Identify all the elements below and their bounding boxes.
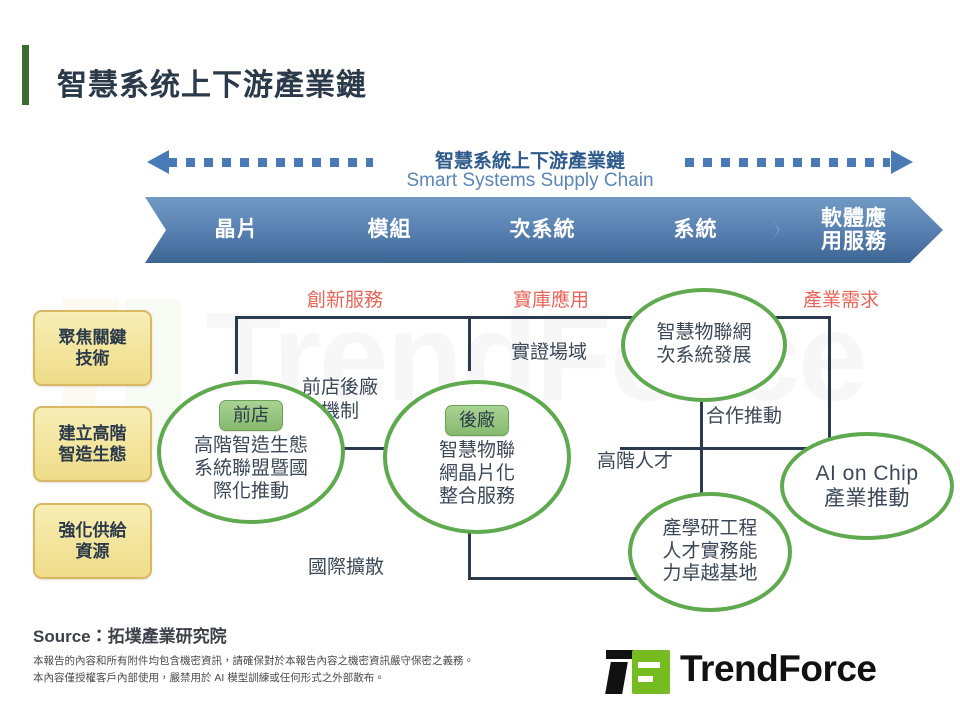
footer-divider: [0, 614, 960, 615]
page-title: 智慧系统上下游產業鏈: [57, 60, 367, 104]
supply-chain-header: 智慧系統上下游產業鏈 Smart Systems Supply Chain: [145, 146, 915, 198]
source-label: Source：拓墣產業研究院: [33, 622, 227, 647]
connector-label-expansion: 國際擴散: [308, 556, 384, 580]
node-text: 智慧物聯網次系統發展: [656, 322, 751, 368]
category-label-application: 寶庫應用: [513, 285, 589, 312]
node-ai-on-chip[interactable]: AI on Chip產業推動: [780, 432, 954, 540]
node-iot-subsystem[interactable]: 智慧物聯網次系統發展: [621, 288, 787, 402]
disclaimer-line-2: 本內容僅授權客戶內部使用，嚴禁用於 AI 模型訓練或任何形式之外部散布。: [33, 670, 385, 685]
connector-bottom-horizontal: [468, 577, 650, 580]
node-text: AI on Chip產業推動: [815, 461, 918, 511]
stage-label: 晶片: [207, 218, 259, 241]
node-text: 高階智造生態系統聯盟暨國際化推動: [194, 435, 308, 503]
stage-system[interactable]: 系統: [604, 197, 779, 263]
supply-chain-stages: 晶片 模組 次系統 系統 軟體應用服務: [145, 197, 920, 263]
chain-subtitle: Smart Systems Supply Chain: [145, 170, 915, 192]
connector-label-testbed: 實證場域: [511, 341, 587, 365]
node-back-factory[interactable]: 後廠 智慧物聯網晶片化整合服務: [383, 380, 571, 534]
strategy-box-supply-resources[interactable]: 強化供給資源: [33, 503, 152, 579]
connector-vertical-mid-top: [468, 316, 471, 371]
title-accent-bar: [22, 45, 29, 105]
stage-label: 軟體應用服務: [813, 207, 887, 253]
slide-root: 智慧系统上下游產業鏈 TrendForce 智慧系統上下游產業鏈 Smart S…: [0, 0, 960, 720]
strategy-box-key-technology[interactable]: 聚焦關鍵技術: [33, 310, 152, 386]
category-label-demand: 產業需求: [803, 285, 879, 312]
node-badge: 後廠: [445, 405, 509, 436]
node-badge: 前店: [219, 400, 283, 431]
stage-chip[interactable]: 晶片: [145, 197, 320, 263]
stage-label: 系統: [666, 218, 718, 241]
chain-title: 智慧系統上下游產業鏈: [145, 146, 915, 173]
stage-label: 模組: [360, 218, 412, 241]
stage-label: 次系統: [502, 218, 576, 241]
connector-vertical-left-top: [235, 316, 238, 374]
trendforce-logo-text: TrendForce: [680, 648, 877, 690]
stage-software-service[interactable]: 軟體應用服務: [757, 197, 943, 263]
node-text: 產學研工程人才實務能力卓越基地: [662, 518, 757, 586]
category-label-innovation: 創新服務: [307, 285, 383, 312]
trendforce-mark-icon: [606, 650, 670, 694]
stage-subsystem[interactable]: 次系統: [451, 197, 626, 263]
connector-label-talent: 高階人才: [597, 450, 673, 474]
disclaimer-line-1: 本報告的內容和所有附件均包含機密資訊，請確保對於本報告內容之機密資訊嚴守保密之義…: [33, 653, 474, 668]
connector-vertical-right: [828, 316, 831, 446]
connector-label-cooperation: 合作推動: [706, 405, 782, 429]
node-text: 智慧物聯網晶片化整合服務: [439, 440, 515, 508]
node-front-store[interactable]: 前店 高階智造生態系統聯盟暨國際化推動: [157, 380, 345, 524]
trendforce-logo: TrendForce: [606, 648, 936, 696]
node-talent-base[interactable]: 產學研工程人才實務能力卓越基地: [628, 492, 792, 612]
stage-module[interactable]: 模組: [298, 197, 473, 263]
strategy-box-manufacturing-ecosystem[interactable]: 建立高階智造生態: [33, 406, 152, 482]
